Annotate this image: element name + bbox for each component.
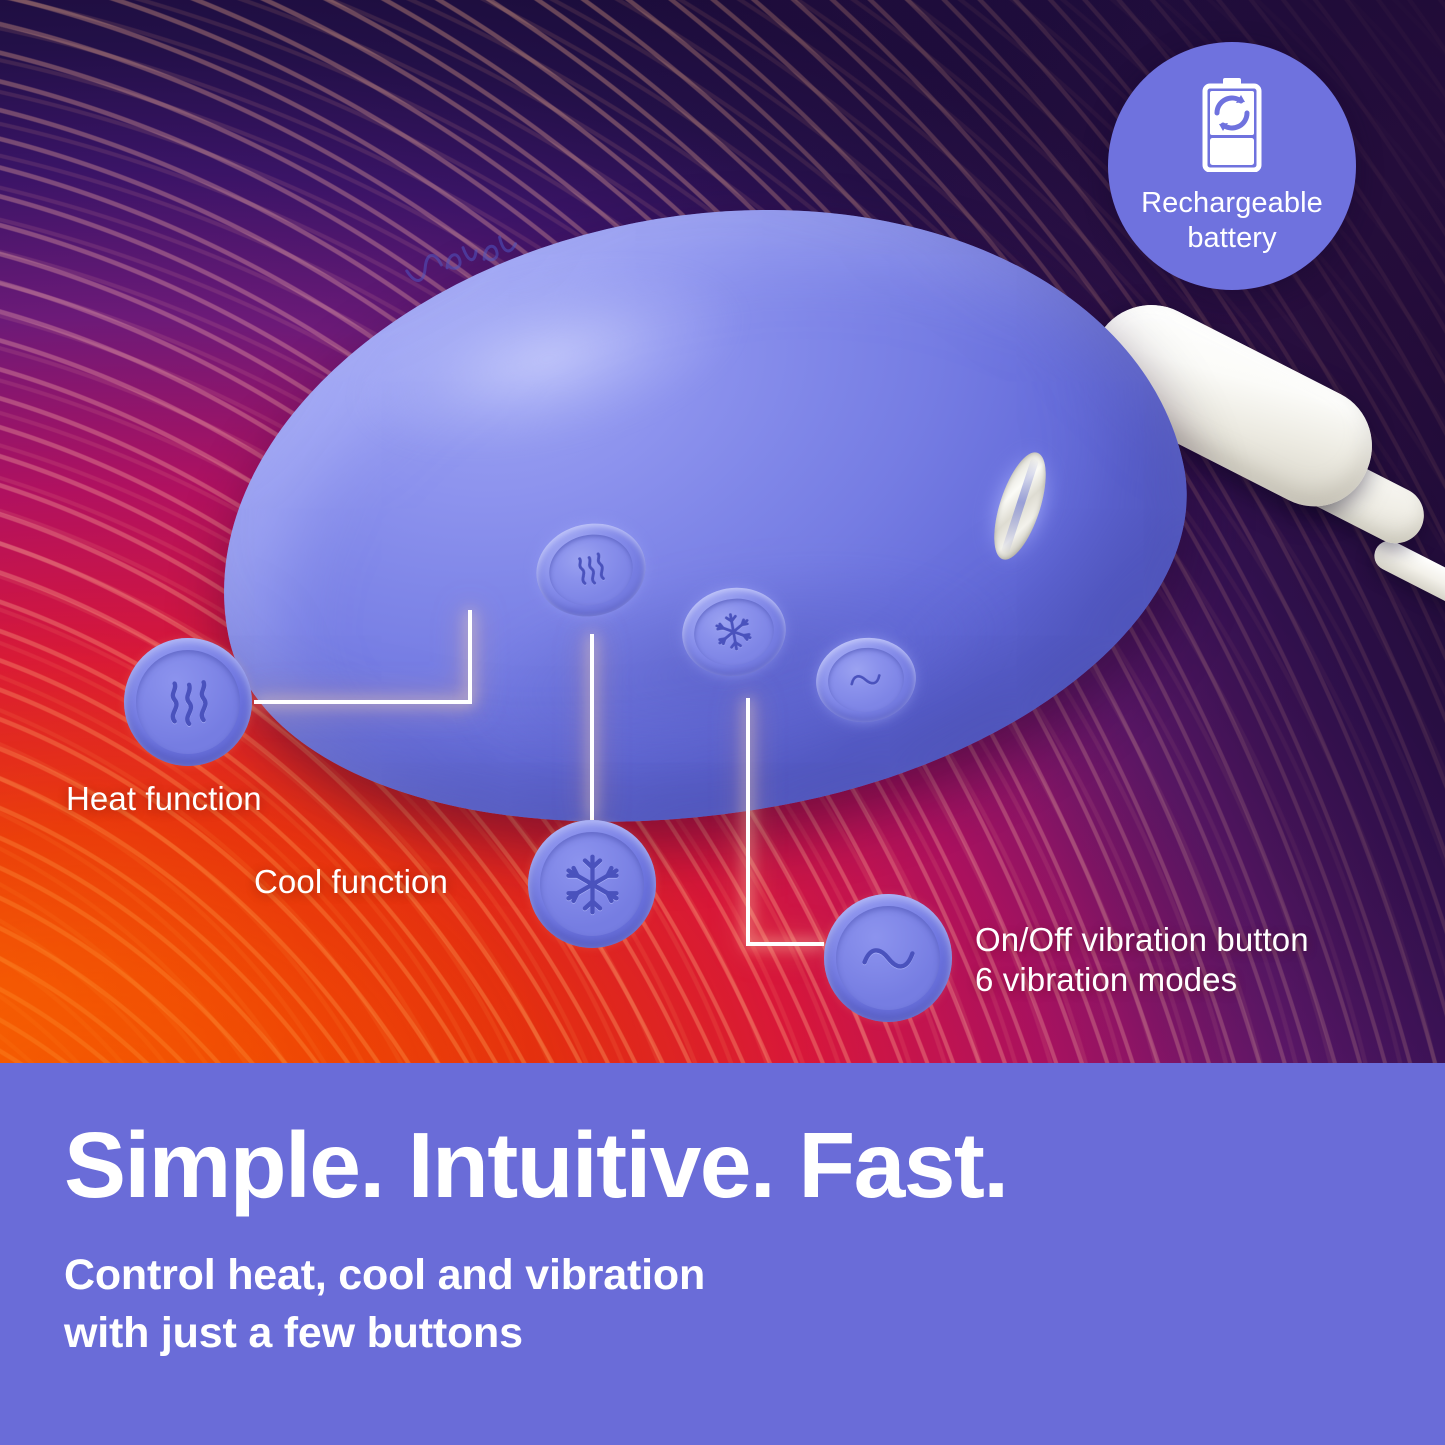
callout-vibration-label: On/Off vibration button 6 vibration mode… [975,920,1309,1001]
callout-heat[interactable] [124,638,252,766]
callout-vibration-badge [824,894,952,1022]
callout-cool-label: Cool function [254,862,448,902]
snowflake-icon [561,853,624,916]
rechargeable-battery-text: Rechargeable battery [1141,186,1323,256]
heat-waves-icon [157,671,220,734]
leader-line-vibration [748,700,822,944]
callout-heat-disc [124,638,252,766]
callout-vibration-disc [824,894,952,1022]
battery-label-line1: Rechargeable [1141,186,1323,221]
leader-line-heat [256,612,470,702]
marketing-copy-panel: Simple. Intuitive. Fast. Control heat, c… [0,1063,1445,1445]
battery-label-line2: battery [1141,221,1323,256]
callout-cool[interactable] [528,820,656,948]
callout-heat-label: Heat function [66,779,262,819]
callout-cool-badge [528,820,656,948]
headline: Simple. Intuitive. Fast. [64,1119,1381,1212]
callout-vibration-label-line2: 6 vibration modes [975,960,1309,1000]
rechargeable-battery-icon [1201,76,1263,172]
callout-heat-face [136,650,241,755]
callout-heat-badge [124,638,252,766]
subheadline: Control heat, cool and vibration with ju… [64,1246,1381,1363]
product-feature-graphic: Heat function Cool function On/Off vibra… [0,0,1445,1445]
callout-vibration-face [836,906,941,1011]
callout-cool-face [540,832,645,937]
wave-tilde-icon [857,927,920,990]
callout-cool-disc [528,820,656,948]
callout-vibration[interactable] [824,894,952,1022]
hero-image-area: Heat function Cool function On/Off vibra… [0,0,1445,1063]
rechargeable-battery-badge: Rechargeable battery [1108,42,1356,290]
callout-vibration-label-line1: On/Off vibration button [975,920,1309,960]
